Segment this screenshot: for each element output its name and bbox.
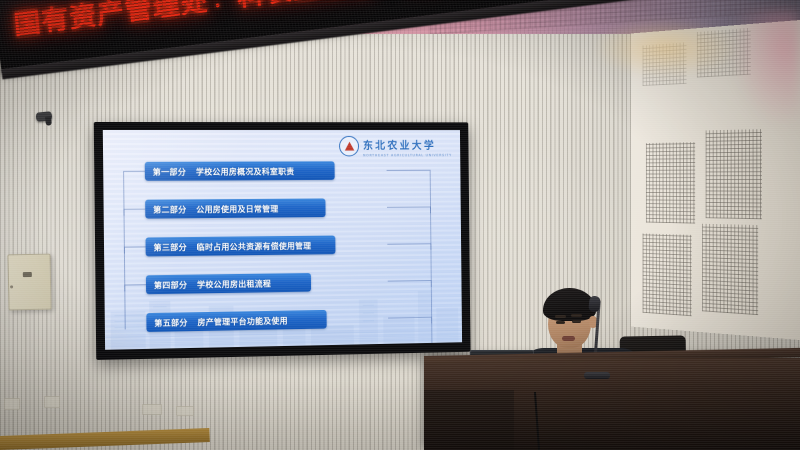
agenda-item-3-title: 临时占用公共资源有偿使用管理 <box>197 239 312 252</box>
perforated-panel <box>702 224 758 315</box>
presenter-brow-right <box>571 314 582 317</box>
presenter-mouth <box>562 336 575 341</box>
agenda-item-1[interactable]: 第一部分 学校公用房概况及科室职责 <box>145 161 335 180</box>
agenda-row: 第三部分 临时占用公共资源有偿使用管理 <box>120 234 449 275</box>
wall-control-box[interactable] <box>7 254 51 311</box>
agenda-item-5-index: 第五部分 <box>154 316 187 329</box>
agenda-item-1-index: 第一部分 <box>153 165 186 177</box>
agenda-item-5[interactable]: 第五部分 房产管理平台功能及使用 <box>146 310 326 332</box>
projection-screen-frame: 东北农业大学 NORTHEAST AGRICULTURAL UNIVERSITY… <box>94 122 471 360</box>
logo-text-cn: 东北农业大学 <box>363 140 436 152</box>
agenda-row: 第五部分 房产管理平台功能及使用 <box>121 308 450 350</box>
screenshot-root: 国有资产管理处：科长上讲台：业务培训会（第一期） <box>0 0 800 450</box>
university-emblem-icon <box>339 135 359 156</box>
projection-screen: 东北农业大学 NORTHEAST AGRICULTURAL UNIVERSITY… <box>103 130 462 350</box>
perforated-panel <box>706 129 762 219</box>
agenda-row: 第二部分 公用房使用及日常管理 <box>119 198 448 238</box>
agenda-row: 第四部分 学校公用房出租流程 <box>120 271 449 313</box>
agenda-item-2-title: 公用房使用及日常管理 <box>196 202 278 214</box>
pink-light-glow <box>730 10 800 130</box>
warm-light-glow <box>590 18 740 78</box>
agenda-item-3-index: 第三部分 <box>153 241 186 253</box>
agenda-row: 第一部分 学校公用房概况及科室职责 <box>119 161 448 200</box>
slide-agenda-list: 第一部分 学校公用房概况及科室职责 第二部分 公用房使用及日常管理 <box>119 161 449 339</box>
wall-socket[interactable] <box>4 398 20 410</box>
wall-socket[interactable] <box>176 406 194 416</box>
led-separator-1: ： <box>207 0 238 13</box>
ceiling-camera-icon <box>36 111 53 122</box>
wall-socket[interactable] <box>142 404 162 415</box>
logo-text-block: 东北农业大学 NORTHEAST AGRICULTURAL UNIVERSITY <box>363 134 452 157</box>
perforated-panel <box>646 142 695 224</box>
logo-text-en: NORTHEAST AGRICULTURAL UNIVERSITY <box>363 153 452 157</box>
university-logo: 东北农业大学 NORTHEAST AGRICULTURAL UNIVERSITY <box>339 134 452 157</box>
agenda-item-1-title: 学校公用房概况及科室职责 <box>196 165 295 177</box>
microphone-base <box>584 372 610 379</box>
agenda-item-5-title: 房产管理平台功能及使用 <box>197 314 287 328</box>
presenter-eye-left <box>556 321 565 324</box>
podium-left-section <box>424 390 514 450</box>
agenda-item-4-index: 第四部分 <box>154 278 187 290</box>
agenda-item-3[interactable]: 第三部分 临时占用公共资源有偿使用管理 <box>146 236 336 257</box>
presenter-eye-right <box>572 320 581 323</box>
agenda-item-2[interactable]: 第二部分 公用房使用及日常管理 <box>145 198 325 218</box>
agenda-item-2-index: 第二部分 <box>153 203 186 215</box>
presenter-brow-left <box>555 315 566 318</box>
agenda-item-4[interactable]: 第四部分 学校公用房出租流程 <box>146 273 311 294</box>
emblem-triangle-icon <box>344 141 354 150</box>
agenda-item-4-title: 学校公用房出租流程 <box>197 277 271 290</box>
wall-socket[interactable] <box>44 396 60 408</box>
agenda-connector-right <box>388 317 432 350</box>
